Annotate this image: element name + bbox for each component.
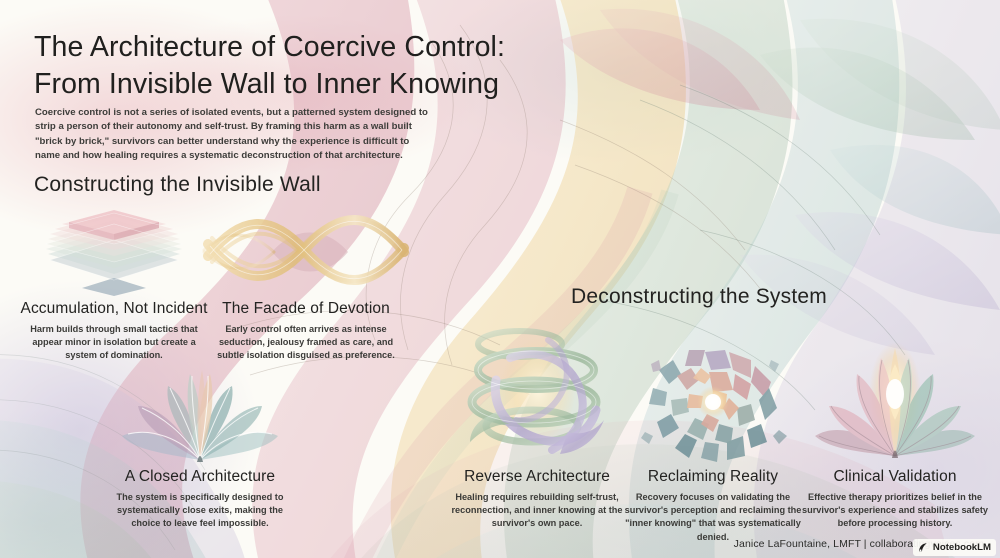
spiral-ribbon-icon: [448, 328, 626, 464]
fanned-lotus-icon: [115, 364, 285, 464]
stacked-layers-icon: [28, 208, 200, 300]
page-title-line-1: The Architecture of Coercive Control:: [34, 31, 505, 63]
mosaic-rosette-icon: [631, 346, 795, 464]
card-accumulation: Accumulation, Not Incident Harm builds t…: [16, 300, 212, 363]
infographic-poster: The Architecture of Coercive Control: Fr…: [0, 0, 1000, 558]
card-closed-architecture-title: A Closed Architecture: [104, 468, 296, 487]
braided-ribbon-icon: [202, 204, 410, 300]
card-clinical-validation: Clinical Validation Effective therapy pr…: [800, 468, 990, 531]
card-reverse-architecture: Reverse Architecture Healing requires re…: [444, 468, 630, 531]
page-title-line-2: From Invisible Wall to Inner Knowing: [34, 66, 654, 102]
card-accumulation-title: Accumulation, Not Incident: [16, 300, 212, 319]
card-clinical-validation-title: Clinical Validation: [800, 468, 990, 487]
card-reverse-architecture-body: Healing requires rebuilding self-trust, …: [444, 491, 630, 531]
section-heading-constructing: Constructing the Invisible Wall: [34, 173, 321, 197]
card-reclaiming-reality-body: Recovery focuses on validating the survi…: [620, 491, 806, 544]
page-title: The Architecture of Coercive Control: Fr…: [34, 29, 654, 102]
notebooklm-badge-label: NotebookLM: [933, 542, 991, 553]
card-reverse-architecture-title: Reverse Architecture: [444, 468, 630, 487]
card-closed-architecture-body: The system is specifically designed to s…: [104, 491, 296, 531]
card-facade-title: The Facade of Devotion: [208, 300, 404, 319]
glowing-lotus-icon: [805, 336, 985, 464]
card-reclaiming-reality-title: Reclaiming Reality: [620, 468, 806, 487]
notebooklm-logo-icon: [917, 541, 930, 554]
section-heading-deconstructing: Deconstructing the System: [571, 285, 827, 309]
card-facade: The Facade of Devotion Early control oft…: [208, 300, 404, 363]
intro-paragraph: Coercive control is not a series of isol…: [35, 106, 435, 164]
card-reclaiming-reality: Reclaiming Reality Recovery focuses on v…: [620, 468, 806, 544]
card-facade-body: Early control often arrives as intense s…: [208, 323, 404, 363]
card-accumulation-body: Harm builds through small tactics that a…: [16, 323, 212, 363]
notebooklm-badge: NotebookLM: [913, 539, 996, 556]
card-clinical-validation-body: Effective therapy prioritizes belief in …: [800, 491, 990, 531]
card-closed-architecture: A Closed Architecture The system is spec…: [104, 468, 296, 531]
